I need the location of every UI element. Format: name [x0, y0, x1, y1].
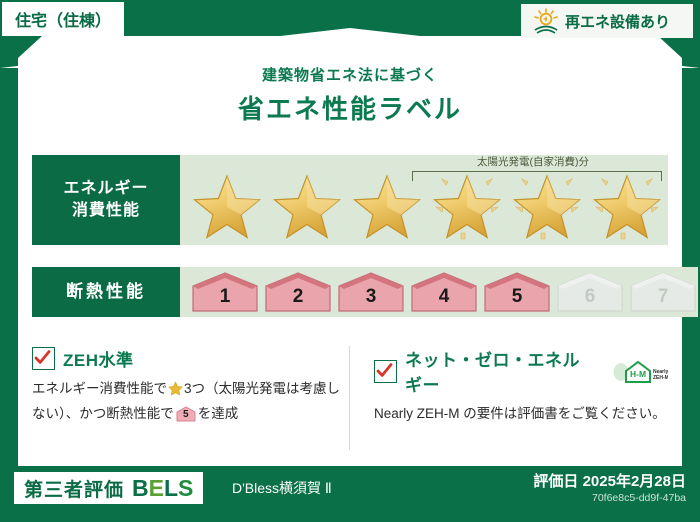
- solar-annotation-label: 太陽光発電(自家消費)分: [404, 154, 662, 169]
- renewable-energy-badge: 再エネ設備あり: [521, 4, 693, 38]
- criteria-section: ZEH水準 エネルギー消費性能で3つ（太陽光発電は考慮しない）、かつ断熱性能で5…: [32, 346, 668, 450]
- insulation-level-5: 5: [482, 271, 552, 313]
- energy-stars-area: 太陽光発電(自家消費)分: [180, 155, 668, 245]
- evaluation-date-label: 評価日: [533, 473, 578, 490]
- bels-certification-box: 第三者評価 BELS: [14, 472, 203, 504]
- third-party-label: 第三者評価: [24, 475, 124, 502]
- svg-text:ZEH-M: ZEH-M: [653, 375, 668, 381]
- zeh-title: ZEH水準: [63, 346, 134, 371]
- property-name: D'Bless横須賀 Ⅱ: [232, 478, 332, 498]
- evaluation-id: 70f6e8c5-dd9f-47ba: [592, 492, 686, 504]
- insulation-level-1: 1: [190, 271, 260, 313]
- energy-performance-label: エネルギー 消費性能: [32, 155, 180, 245]
- insulation-level-4: 4: [409, 271, 479, 313]
- insulation-level-value: 1: [220, 287, 231, 313]
- solar-annotation-bracket: [412, 171, 662, 181]
- bels-wordmark: BELS: [132, 475, 193, 502]
- nze-heading: ネット・ゼロ・エネルギー H-M Nearly ZEH-M: [374, 346, 668, 396]
- inline-house-value: 5: [176, 407, 196, 424]
- insulation-level-2: 2: [263, 271, 333, 313]
- title-main: 省エネ性能ラベル: [0, 89, 700, 126]
- zeh-description: エネルギー消費性能で3つ（太陽光発電は考慮しない）、かつ断熱性能で5を達成: [32, 378, 350, 426]
- inline-star-icon: [168, 381, 183, 403]
- title-block: 建築物省エネ法に基づく 省エネ性能ラベル: [0, 64, 700, 126]
- energy-performance-row: エネルギー 消費性能 太陽光発電(自家消費)分: [32, 155, 668, 245]
- energy-label-line1: エネルギー: [63, 178, 148, 200]
- star-2: [268, 167, 346, 241]
- nze-description: Nearly ZEH-M の要件は評価書をご覧ください。: [374, 403, 668, 425]
- insulation-level-value: 3: [366, 287, 377, 313]
- nearly-zeh-m-logo: H-M Nearly ZEH-M: [612, 358, 668, 384]
- insulation-level-value: 2: [293, 287, 304, 313]
- inline-house-badge: 5: [176, 406, 196, 422]
- zeh-heading: ZEH水準: [32, 346, 350, 371]
- criteria-net-zero-energy: ネット・ゼロ・エネルギー H-M Nearly ZEH-M Nearly ZEH…: [350, 346, 668, 450]
- insulation-level-value: 5: [512, 287, 523, 313]
- insulation-level-group: 1234567: [190, 271, 698, 313]
- energy-label-line2: 消費性能: [72, 200, 140, 222]
- zeh-checkbox: [32, 347, 55, 370]
- insulation-level-value: 7: [658, 287, 669, 313]
- insulation-performance-row: 断熱性能 1234567: [32, 267, 668, 317]
- label-footer: 第三者評価 BELS D'Bless横須賀 Ⅱ 評価日 2025年2月28日 7…: [0, 466, 700, 522]
- building-type-tag: 住宅（住棟）: [2, 2, 124, 36]
- zeh-text-part3: を達成: [198, 406, 239, 421]
- insulation-level-6: 6: [555, 271, 625, 313]
- insulation-level-value: 6: [585, 287, 596, 313]
- bels-energy-label: 住宅（住棟） 再エネ設備あり: [0, 0, 700, 522]
- svg-text:H-M: H-M: [630, 369, 646, 379]
- star-1: [188, 167, 266, 241]
- label-header: 住宅（住棟） 再エネ設備あり: [0, 0, 700, 64]
- insulation-performance-label: 断熱性能: [32, 267, 180, 317]
- insulation-level-3: 3: [336, 271, 406, 313]
- nze-checkbox: [374, 360, 397, 383]
- insulation-level-7: 7: [628, 271, 698, 313]
- zeh-text-part1: エネルギー消費性能で: [32, 381, 167, 396]
- building-type-label: 住宅（住棟）: [15, 7, 111, 31]
- nze-title: ネット・ゼロ・エネルギー: [405, 346, 596, 396]
- criteria-zeh-standard: ZEH水準 エネルギー消費性能で3つ（太陽光発電は考慮しない）、かつ断熱性能で5…: [32, 346, 350, 450]
- renewable-energy-label: 再エネ設備あり: [565, 11, 670, 32]
- insulation-level-value: 4: [439, 287, 450, 313]
- insulation-levels-area: 1234567: [180, 267, 698, 317]
- evaluation-date: 評価日 2025年2月28日: [533, 470, 686, 491]
- title-subtitle: 建築物省エネ法に基づく: [0, 64, 700, 85]
- insulation-label-text: 断熱性能: [66, 281, 146, 304]
- sun-solar-icon: [531, 7, 561, 35]
- evaluation-date-value: 2025年2月28日: [583, 473, 686, 490]
